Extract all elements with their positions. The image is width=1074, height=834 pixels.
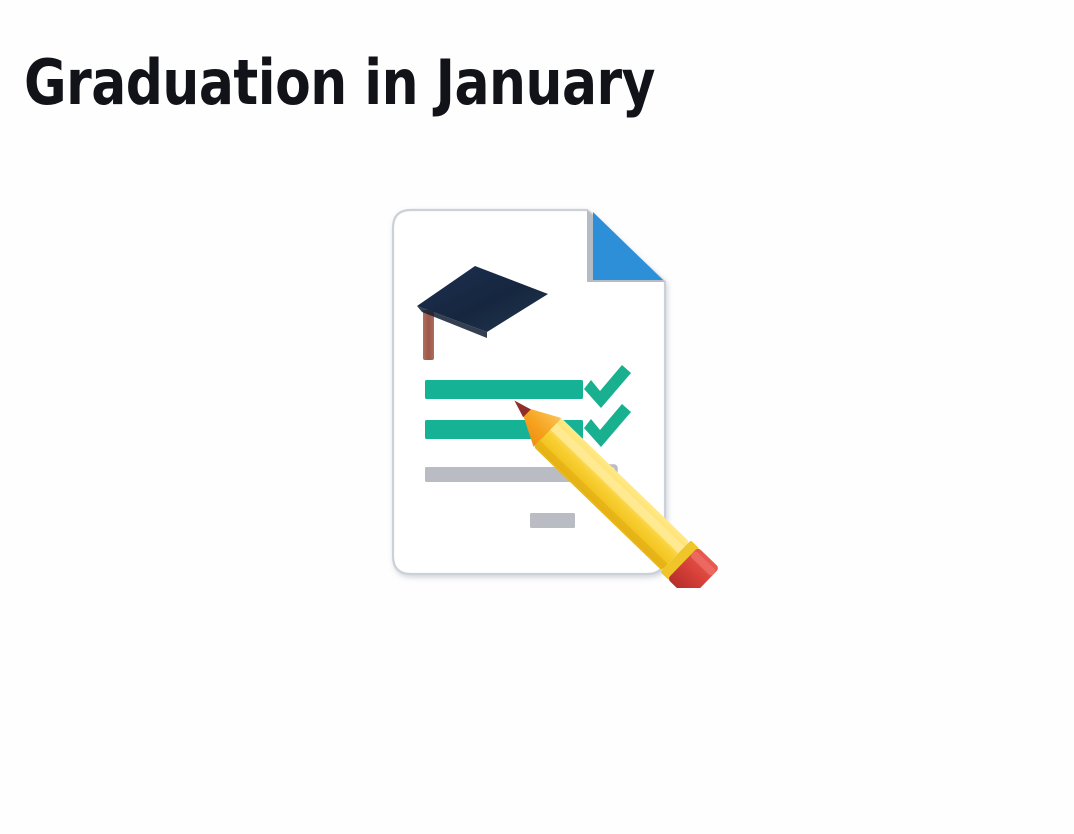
blank-canvas-area (0, 600, 1074, 834)
graduation-checklist-icon (375, 198, 745, 588)
folded-corner-group (587, 210, 665, 282)
page-title: Graduation in January (24, 50, 655, 115)
checklist-line-4 (530, 513, 575, 528)
graduation-cap-tassel (423, 310, 434, 360)
graduation-checklist-illustration (375, 198, 745, 588)
checklist-line-1 (425, 380, 583, 399)
page-root: Graduation in January (0, 0, 1074, 834)
